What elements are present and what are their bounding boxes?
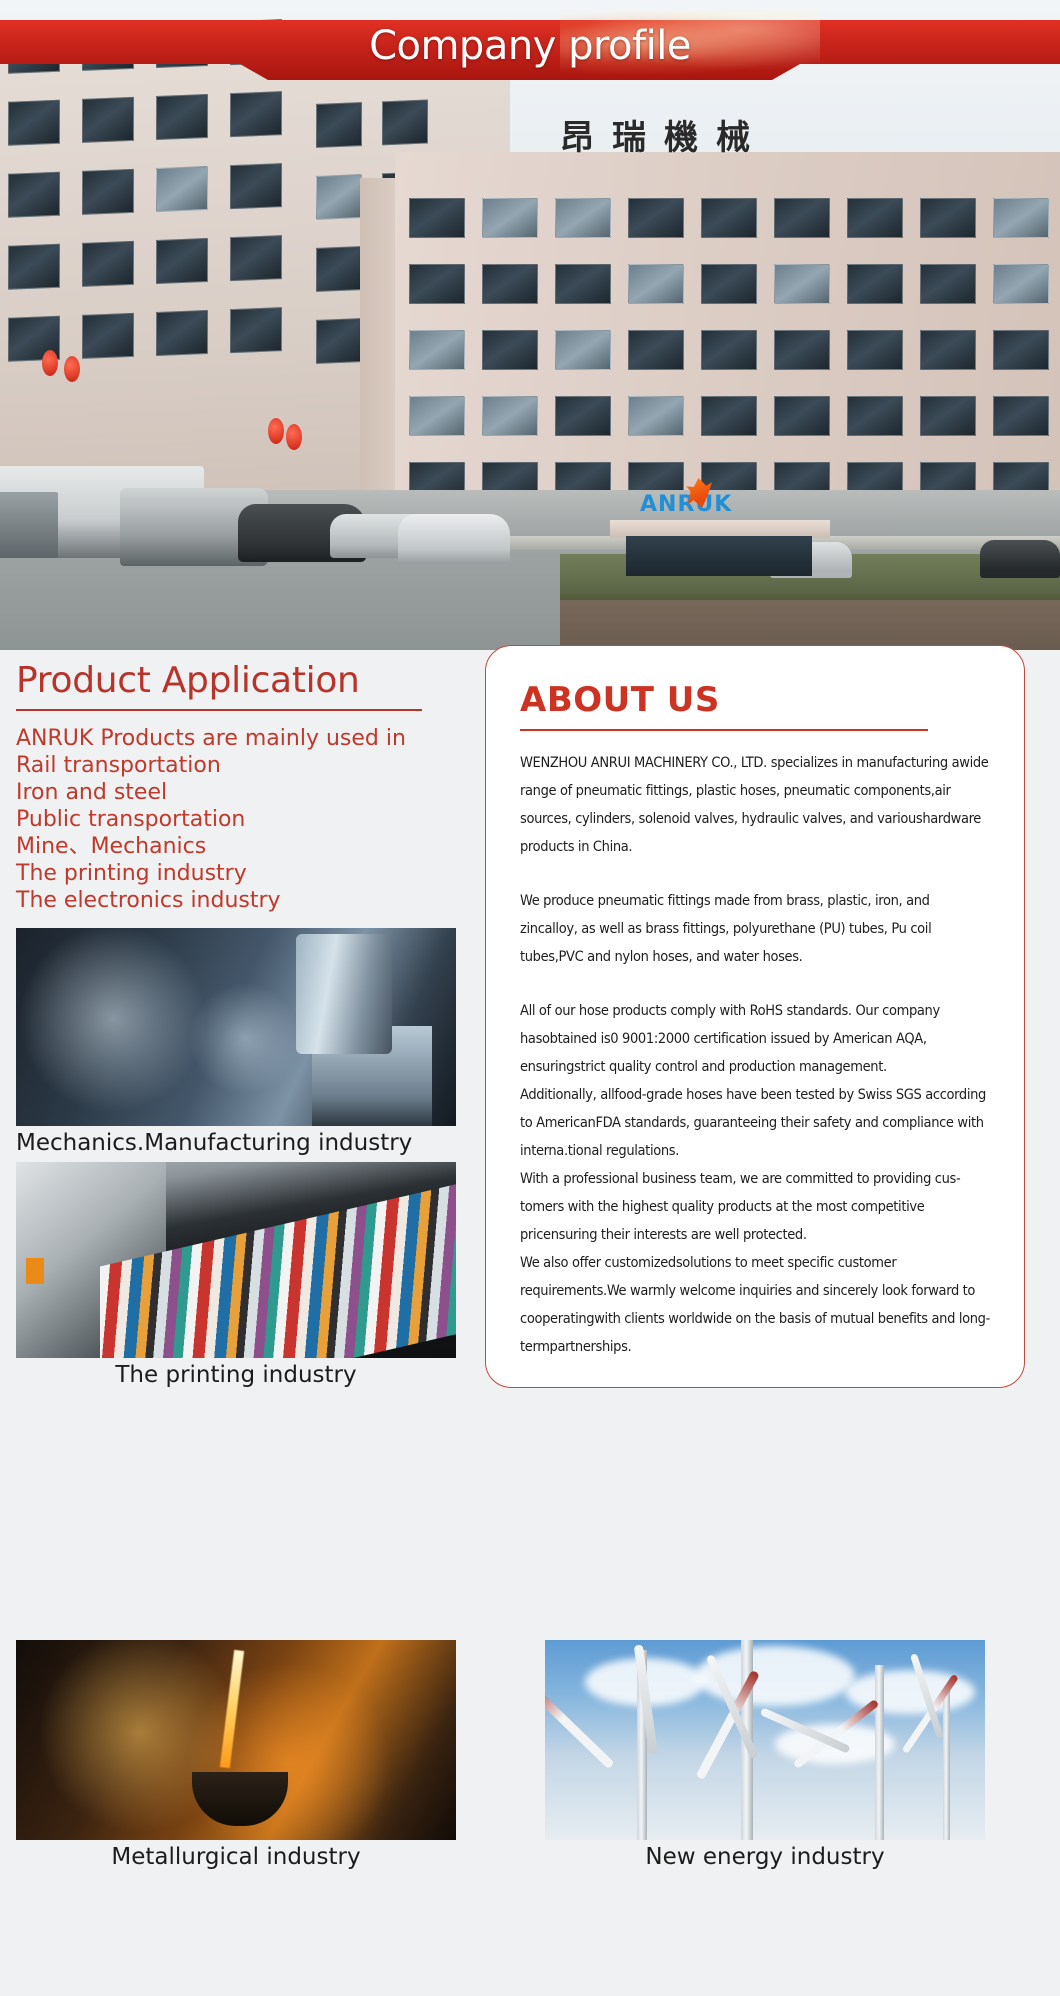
building-window (316, 174, 362, 220)
building-window (774, 198, 830, 238)
application-list-item: Public transportation (16, 806, 470, 833)
building-window (156, 310, 208, 356)
building-window (8, 172, 60, 218)
building-window (316, 102, 362, 148)
building-window (993, 330, 1049, 370)
building-window (382, 100, 428, 146)
building-window (628, 396, 684, 436)
molten-metal-pouring-photo[interactable] (16, 1640, 456, 1840)
building-window (701, 396, 757, 436)
building-window (82, 241, 134, 287)
building-window (230, 307, 282, 353)
application-list-item: The printing industry (16, 860, 470, 887)
building-window (920, 396, 976, 436)
about-us-body: WENZHOU ANRUI MACHINERY CO., LTD. specia… (520, 749, 990, 1361)
building-window (230, 163, 282, 209)
building-window (156, 166, 208, 212)
building-window (409, 198, 465, 238)
building-window (409, 264, 465, 304)
building-window (230, 91, 282, 137)
building-window (701, 198, 757, 238)
hero-banner: 昂瑞機械 ANRUK Company profile (0, 0, 1060, 650)
about-us-heading: ABOUT US (520, 680, 990, 720)
product-application-heading: Product Application (0, 660, 470, 701)
application-list-item: Iron and steel (16, 779, 470, 806)
thumbnail-printing[interactable]: The printing industry (0, 1162, 470, 1388)
building-window (774, 396, 830, 436)
about-paragraph: We produce pneumatic fittings made from … (520, 887, 990, 971)
building-window (847, 198, 903, 238)
parked-car-far-3 (980, 540, 1060, 578)
caption-new-energy: New energy industry (545, 1840, 985, 1870)
building-window (701, 264, 757, 304)
application-list-item: Mine、Mechanics (16, 833, 470, 860)
building-window (82, 97, 134, 143)
about-paragraph: All of our hose products comply with RoH… (520, 997, 990, 1081)
building-window (555, 198, 611, 238)
building-window (316, 246, 362, 292)
landscaping-soil (560, 594, 1060, 650)
heading-divider (16, 709, 422, 711)
building-window (628, 198, 684, 238)
building-window (555, 396, 611, 436)
building-window (482, 264, 538, 304)
company-name-chinese: 昂瑞機械 (560, 110, 768, 159)
building-window (409, 330, 465, 370)
building-window (409, 396, 465, 436)
building-window (156, 238, 208, 284)
building-window (920, 264, 976, 304)
printing-press-photo[interactable] (16, 1162, 456, 1358)
press-knob-icon (26, 1258, 44, 1284)
foundry-ladle (192, 1772, 288, 1826)
building-window (555, 330, 611, 370)
building-window (8, 244, 60, 290)
red-lantern-icon (42, 350, 58, 376)
building-window (8, 100, 60, 146)
application-list-item: Rail transportation (16, 752, 470, 779)
turbine-mast (875, 1665, 884, 1840)
building-window (482, 396, 538, 436)
building-window (482, 330, 538, 370)
building-window (920, 198, 976, 238)
red-lantern-icon (64, 356, 80, 382)
building-window (993, 396, 1049, 436)
parked-car-white (398, 514, 510, 564)
building-window (847, 396, 903, 436)
turbine-mast (943, 1690, 950, 1840)
building-window (993, 198, 1049, 238)
about-paragraph: With a professional business team, we ar… (520, 1165, 990, 1249)
product-application-section: Product Application ANRUK Products are m… (0, 660, 470, 1388)
gallery-item-new-energy[interactable]: New energy industry (545, 1640, 985, 1870)
building-window (847, 330, 903, 370)
red-lantern-icon (268, 418, 284, 444)
building-window (555, 264, 611, 304)
building-window (82, 313, 134, 359)
about-paragraph: Additionally, allfood-grade hoses have b… (520, 1081, 990, 1165)
thumbnail-machining[interactable]: Mechanics.Manufacturing industry (0, 928, 470, 1156)
cnc-machining-photo[interactable] (16, 928, 456, 1126)
about-paragraph: WENZHOU ANRUI MACHINERY CO., LTD. specia… (520, 749, 990, 861)
about-us-card: ABOUT US WENZHOU ANRUI MACHINERY CO., LT… (485, 645, 1025, 1388)
building-window (920, 330, 976, 370)
application-list: ANRUK Products are mainly used inRail tr… (16, 725, 470, 914)
gallery-item-metallurgical[interactable]: Metallurgical industry (16, 1640, 456, 1870)
entrance-doors (626, 536, 812, 576)
about-heading-divider (520, 729, 928, 731)
building-window (316, 318, 362, 364)
molten-pour-stream (220, 1650, 244, 1768)
building-window (230, 235, 282, 281)
building-window (156, 94, 208, 140)
caption-printing: The printing industry (16, 1358, 456, 1388)
anruk-sign-text: ANRUK (640, 492, 732, 517)
building-window (701, 330, 757, 370)
caption-machining: Mechanics.Manufacturing industry (16, 1126, 456, 1156)
wind-turbines-photo[interactable] (545, 1640, 985, 1840)
application-list-item: The electronics industry (16, 887, 470, 914)
anruk-building-sign: ANRUK (640, 492, 732, 517)
building-window (993, 264, 1049, 304)
page-title: Company profile (0, 20, 1060, 72)
building-window (847, 264, 903, 304)
application-intro: ANRUK Products are mainly used in (16, 725, 470, 752)
building-window (482, 198, 538, 238)
building-window (774, 264, 830, 304)
building-window (82, 169, 134, 215)
red-lantern-icon (286, 424, 302, 450)
building-window (628, 330, 684, 370)
truck-cab (0, 492, 58, 558)
about-paragraph: We also offer customizedsolutions to mee… (520, 1249, 990, 1361)
building-window (628, 264, 684, 304)
caption-metallurgical: Metallurgical industry (16, 1840, 456, 1870)
building-window (774, 330, 830, 370)
